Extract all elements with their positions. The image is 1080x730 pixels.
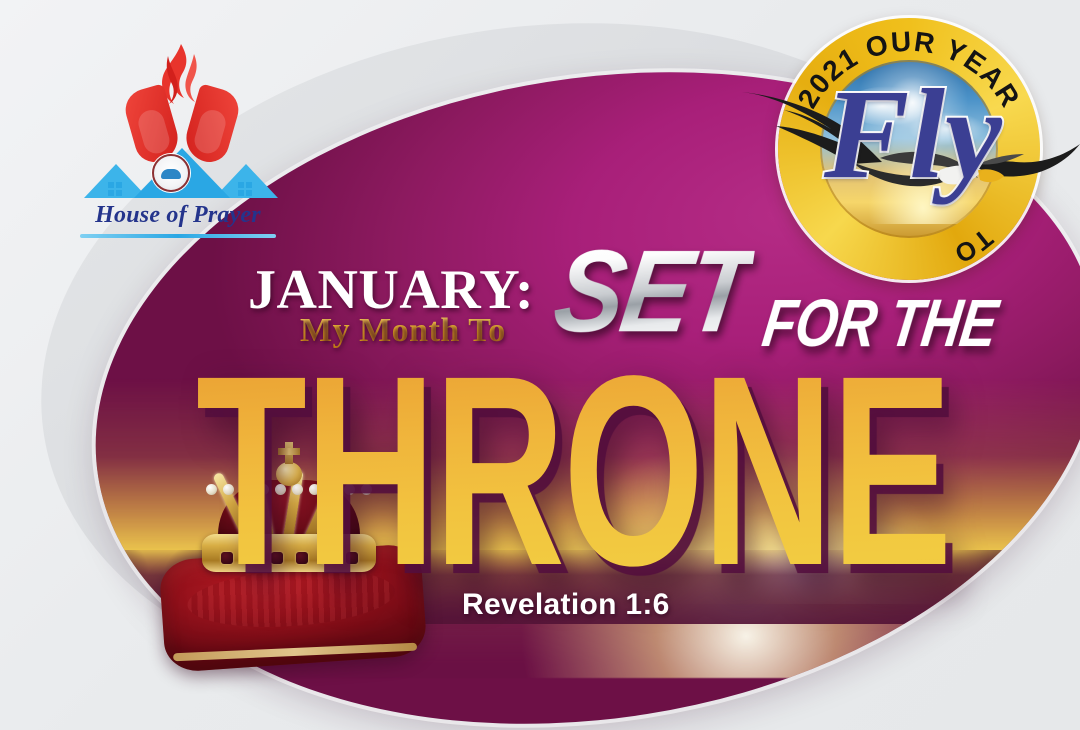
fly-script-word: Fly (824, 70, 996, 260)
crown-cross-icon (285, 442, 293, 464)
crown-pearls (206, 484, 372, 500)
window-right-icon (238, 182, 252, 196)
logo-underline (80, 234, 276, 238)
year-theme-badge[interactable]: 2021 OUR YEAR TO Fly (778, 18, 1040, 280)
church-emblem-icon (152, 154, 190, 192)
house-of-prayer-logo[interactable]: House of Prayer (68, 42, 288, 222)
logo-wordmark: House of Prayer (68, 202, 288, 229)
crown-orb (276, 462, 302, 486)
cushion-texture (186, 563, 397, 633)
flyer-canvas: JANUARY: My Month To SET FOR THE THRONE … (0, 0, 1080, 730)
golden-crown-icon (196, 464, 382, 572)
crown-jewels (214, 550, 364, 566)
window-left-icon (108, 182, 122, 196)
crown-image (152, 446, 452, 676)
